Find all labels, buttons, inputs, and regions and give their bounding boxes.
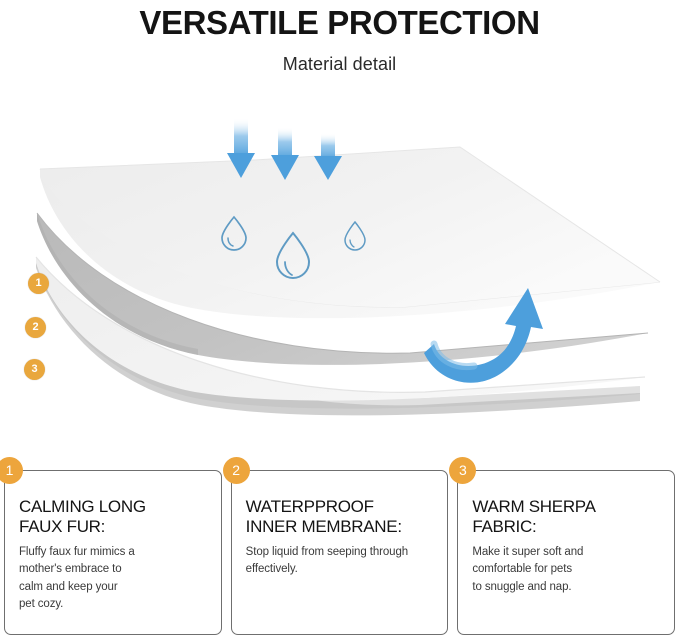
material-layer-1-top-sheet (40, 147, 660, 318)
feature-card-2: 2 WATERPPROOF INNER MEMBRANE: Stop liqui… (231, 470, 449, 635)
material-layers-illustration: 1 2 3 (0, 105, 679, 450)
card-badge-1: 1 (0, 457, 23, 484)
card-title-2: WATERPPROOF INNER MEMBRANE: (246, 497, 434, 537)
feature-card-1: 1 CALMING LONG FAUX FUR: Fluffy faux fur… (4, 470, 222, 635)
card-body-1: Fluffy faux fur mimics a mother's embrac… (19, 537, 207, 613)
layer-marker-2: 2 (25, 317, 46, 338)
card-badge-3: 3 (449, 457, 476, 484)
layer-marker-1: 1 (28, 273, 49, 294)
layer-diagram-svg (0, 105, 679, 450)
layer-marker-3: 3 (24, 359, 45, 380)
down-arrows-group (227, 118, 342, 180)
card-body-3: Make it super soft and comfortable for p… (472, 537, 660, 596)
feature-card-3: 3 WARM SHERPA FABRIC: Make it super soft… (457, 470, 675, 635)
page-subtitle: Material detail (0, 41, 679, 75)
card-title-3: WARM SHERPA FABRIC: (472, 497, 660, 537)
card-title-1: CALMING LONG FAUX FUR: (19, 497, 207, 537)
card-body-2: Stop liquid from seeping through effecti… (246, 537, 434, 579)
card-badge-2: 2 (223, 457, 250, 484)
header: VERSATILE PROTECTION Material detail (0, 0, 679, 75)
feature-cards: 1 CALMING LONG FAUX FUR: Fluffy faux fur… (0, 470, 679, 635)
page-title: VERSATILE PROTECTION (0, 0, 679, 41)
